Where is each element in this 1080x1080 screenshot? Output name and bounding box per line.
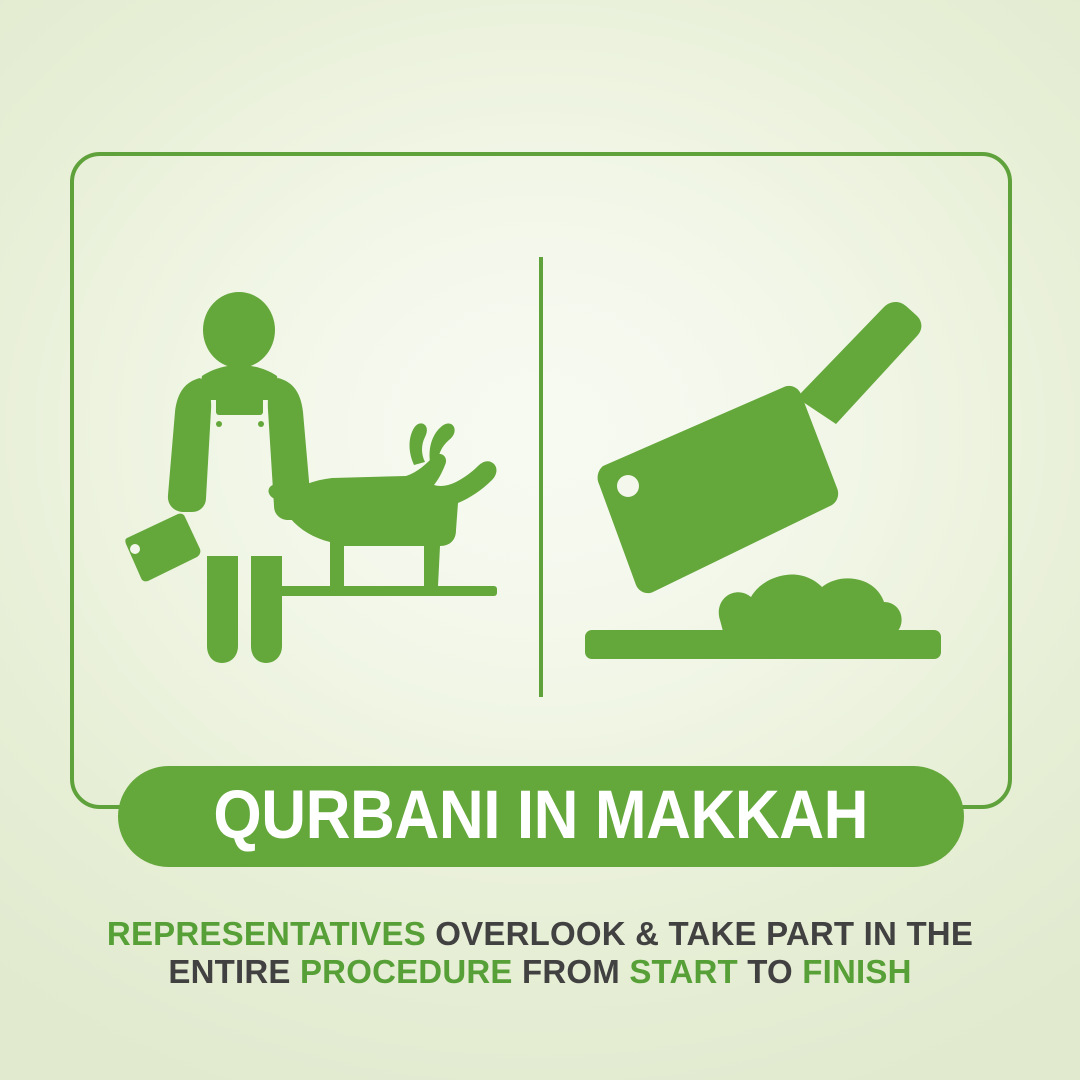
butcher-with-goat-icon [118, 290, 508, 670]
subtitle-word: TO [747, 953, 793, 990]
subtitle-line: ENTIRE PROCEDURE FROM START TO FINISH [0, 953, 1080, 991]
vertical-divider [539, 257, 543, 697]
subtitle-word: ENTIRE [168, 953, 290, 990]
subtitle-word: FINISH [802, 953, 911, 990]
subtitle-word: START [629, 953, 738, 990]
page-title: QURBANI IN MAKKAH [214, 780, 869, 853]
subtitle-word: IN [864, 915, 897, 952]
subtitle-word: PROCEDURE [300, 953, 513, 990]
subtitle-word: OVERLOOK [435, 915, 625, 952]
title-pill: QURBANI IN MAKKAH [118, 766, 964, 867]
subtitle-word: & [635, 915, 659, 952]
subtitle-word: PART [766, 915, 854, 952]
subtitle-word: FROM [522, 953, 620, 990]
cleaver-and-meat-icon [572, 290, 962, 670]
subtitle-word: TAKE [669, 915, 757, 952]
subtitle-word: THE [906, 915, 973, 952]
subtitle-line: REPRESENTATIVES OVERLOOK & TAKE PART IN … [0, 915, 1080, 953]
subtitle: REPRESENTATIVES OVERLOOK & TAKE PART IN … [0, 915, 1080, 991]
subtitle-word: REPRESENTATIVES [107, 915, 426, 952]
